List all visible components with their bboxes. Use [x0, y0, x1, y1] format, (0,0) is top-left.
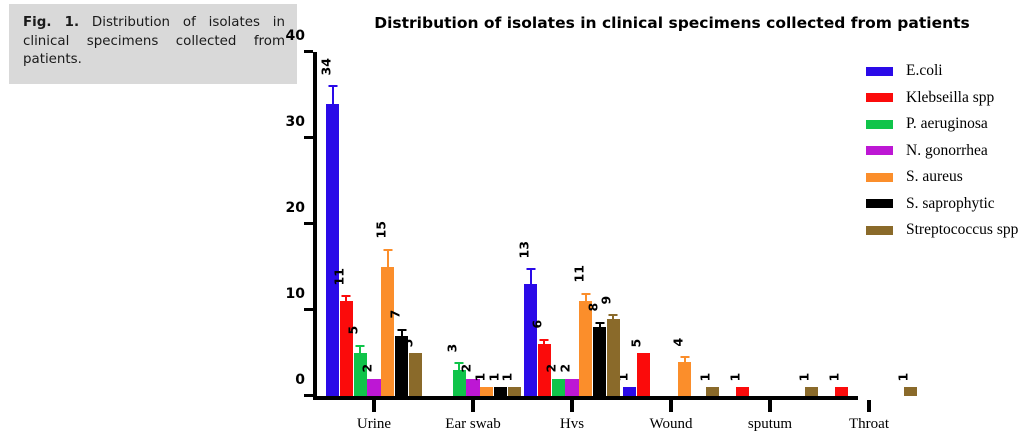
legend-item[interactable]: Streptococcus spp	[866, 217, 1018, 244]
error-bar-cap	[383, 249, 392, 251]
x-axis-tick	[768, 400, 772, 412]
bar-value-label: 9	[601, 295, 614, 304]
y-axis-tick	[304, 136, 313, 139]
bar	[453, 370, 466, 396]
legend-item[interactable]: E.coli	[866, 58, 1018, 85]
figure-caption-text: Fig. 1. Distribution of isolates in clin…	[23, 14, 285, 70]
legend-item[interactable]: S. saprophytic	[866, 191, 1018, 218]
bar-value-label: 3	[447, 343, 460, 352]
error-bar-cap	[595, 322, 604, 324]
bar-value-label: 1	[474, 373, 487, 382]
legend-color-swatch	[866, 226, 893, 235]
bar	[381, 267, 394, 396]
y-axis-tick	[304, 394, 313, 397]
bar	[706, 387, 719, 396]
legend-item-label: S. aureus	[906, 168, 963, 186]
x-axis-tick	[471, 400, 475, 412]
error-bar-cap	[342, 295, 351, 297]
bar-value-label: 2	[362, 364, 375, 373]
bar	[552, 379, 565, 396]
bar	[494, 387, 507, 396]
error-bar-cap	[526, 268, 535, 270]
bar-value-label: 1	[799, 373, 812, 382]
legend-item[interactable]: N. gonorrhea	[866, 138, 1018, 165]
bar	[637, 353, 650, 396]
bar-value-label: 6	[532, 320, 545, 329]
bar-value-label: 11	[573, 265, 586, 282]
legend-item-label: P. aeruginosa	[906, 115, 988, 133]
bar-value-label: 1	[829, 373, 842, 382]
bar	[409, 353, 422, 396]
x-axis-tick	[669, 400, 673, 412]
y-axis-line	[313, 52, 317, 396]
legend-item[interactable]: S. aureus	[866, 164, 1018, 191]
bar	[904, 387, 917, 396]
x-axis-category-label: Throat	[849, 416, 889, 433]
bar-value-label: 2	[546, 364, 559, 373]
x-axis-category-label: Hvs	[560, 416, 584, 433]
x-axis-category-label: Urine	[357, 416, 391, 433]
legend-color-swatch	[866, 93, 893, 102]
legend-item[interactable]: P. aeruginosa	[866, 111, 1018, 138]
x-axis-line	[313, 396, 858, 400]
legend-color-swatch	[866, 146, 893, 155]
bar-value-label: 1	[700, 373, 713, 382]
y-axis-label: 0	[267, 372, 305, 388]
chart-legend: E.coliKlebseilla sppP. aeruginosaN. gono…	[866, 58, 1018, 244]
error-bar-cap	[397, 329, 406, 331]
bar-value-label: 13	[518, 241, 531, 258]
y-axis-tick	[304, 308, 313, 311]
legend-color-swatch	[866, 173, 893, 182]
legend-color-swatch	[866, 120, 893, 129]
x-axis-tick	[570, 400, 574, 412]
error-bar-cap	[609, 314, 618, 316]
bar-value-label: 4	[672, 337, 685, 346]
bar	[340, 301, 353, 396]
bar-value-label: 7	[389, 310, 402, 319]
figure-label: Fig. 1.	[23, 15, 79, 30]
legend-item-label: Streptococcus spp	[906, 221, 1018, 239]
bar-value-label: 2	[461, 364, 474, 373]
error-bar-cap	[328, 85, 337, 87]
bar-value-label: 1	[898, 373, 911, 382]
legend-color-swatch	[866, 67, 893, 76]
bar	[367, 379, 380, 396]
bar-value-label: 15	[375, 221, 388, 238]
bar	[835, 387, 848, 396]
bar	[623, 387, 636, 396]
error-bar-cap	[540, 339, 549, 341]
legend-color-swatch	[866, 199, 893, 208]
bar-value-label: 5	[631, 338, 644, 347]
error-bar-cap	[680, 356, 689, 358]
y-axis-tick	[304, 222, 313, 225]
chart-title: Distribution of isolates in clinical spe…	[352, 14, 992, 32]
bar	[593, 327, 606, 396]
bar	[354, 353, 367, 396]
legend-item-label: N. gonorrhea	[906, 142, 988, 160]
bar	[524, 284, 537, 396]
bar	[736, 387, 749, 396]
y-axis-tick	[304, 50, 313, 53]
bar	[579, 301, 592, 396]
bar-value-label: 5	[403, 338, 416, 347]
bar	[607, 319, 620, 396]
bar-value-label: 5	[348, 326, 361, 335]
bar-value-label: 1	[730, 373, 743, 382]
bar-value-label: 2	[560, 364, 573, 373]
legend-item[interactable]: Klebseilla spp	[866, 85, 1018, 112]
x-axis-category-label: Ear swab	[445, 416, 500, 433]
bar	[326, 104, 339, 396]
legend-item-label: E.coli	[906, 62, 943, 80]
bar	[480, 387, 493, 396]
bar	[678, 362, 691, 396]
error-bar-cap	[356, 345, 365, 347]
figure-caption-box: Fig. 1. Distribution of isolates in clin…	[9, 4, 297, 84]
bar-value-label: 34	[320, 58, 333, 75]
bar-value-label: 1	[502, 373, 515, 382]
y-axis-label: 20	[267, 200, 305, 216]
bar	[508, 387, 521, 396]
bar-value-label: 11	[334, 268, 347, 285]
legend-item-label: Klebseilla spp	[906, 89, 994, 107]
y-axis-label: 30	[267, 114, 305, 130]
legend-item-label: S. saprophytic	[906, 195, 995, 213]
bar	[805, 387, 818, 396]
error-bar-cap	[581, 293, 590, 295]
y-axis-label: 10	[267, 286, 305, 302]
bar	[565, 379, 578, 396]
chart-plot-area: 010203040 UrineEar swabHvsWoundsputumThr…	[313, 52, 858, 400]
x-axis-tick	[867, 400, 871, 412]
y-axis-label: 40	[267, 28, 305, 44]
x-axis-category-label: Wound	[650, 416, 693, 433]
x-axis-tick	[372, 400, 376, 412]
x-axis-category-label: sputum	[748, 416, 792, 433]
